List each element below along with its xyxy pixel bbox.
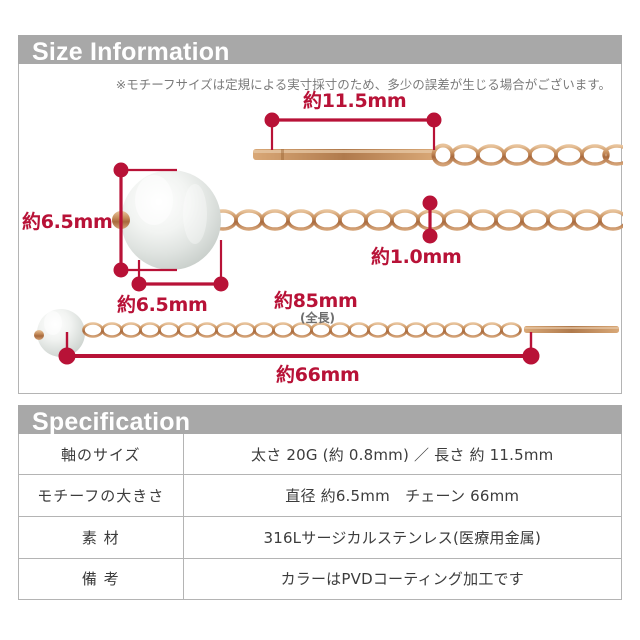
product-size-spec-image: Size Information ※モチーフサイズは定規による実寸採寸のため、多…	[0, 0, 640, 640]
dimension-label-post-length: 約11.5mm	[303, 86, 406, 113]
dimension-label-pearl-width: 約6.5mm	[117, 290, 207, 317]
spec-value: 直径 約6.5mm チェーン 66mm	[183, 475, 621, 517]
spec-key: 軸のサイズ	[19, 434, 183, 475]
dimension-chain-link-width	[423, 196, 437, 243]
dimension-label-total-length-sub: (全長)	[300, 309, 335, 326]
dimension-label-pearl-height: 約6.5mm	[22, 207, 112, 234]
cotton-pearl-large	[112, 170, 221, 270]
table-row: 備 考 カラーはPVDコーティング加工です	[19, 558, 621, 599]
dimension-label-chain-length: 約66mm	[276, 360, 360, 387]
dimension-label-chain-link: 約1.0mm	[371, 242, 461, 269]
size-information-panel: ※モチーフサイズは定規による実寸採寸のため、多少の誤差が生じる場合がございます。	[18, 64, 622, 394]
cotton-pearl-small	[34, 309, 85, 357]
spec-key: 備 考	[19, 558, 183, 599]
lower-post-bar	[524, 326, 619, 333]
earring-post-bar	[253, 146, 453, 165]
spec-key: 素 材	[19, 516, 183, 558]
specification-panel: 軸のサイズ 太さ 20G (約 0.8mm) ／ 長さ 約 11.5mm モチー…	[18, 434, 622, 600]
spec-value: 316Lサージカルステンレス(医療用金属)	[183, 516, 621, 558]
spec-value: 太さ 20G (約 0.8mm) ／ 長さ 約 11.5mm	[183, 434, 621, 475]
table-row: モチーフの大きさ 直径 約6.5mm チェーン 66mm	[19, 475, 621, 517]
spec-key: モチーフの大きさ	[19, 475, 183, 517]
specification-table: 軸のサイズ 太さ 20G (約 0.8mm) ／ 長さ 約 11.5mm モチー…	[19, 434, 621, 599]
table-row: 素 材 316Lサージカルステンレス(医療用金属)	[19, 516, 621, 558]
table-row: 軸のサイズ 太さ 20G (約 0.8mm) ／ 長さ 約 11.5mm	[19, 434, 621, 475]
dimension-post-length	[265, 113, 441, 150]
spec-value: カラーはPVDコーティング加工です	[183, 558, 621, 599]
